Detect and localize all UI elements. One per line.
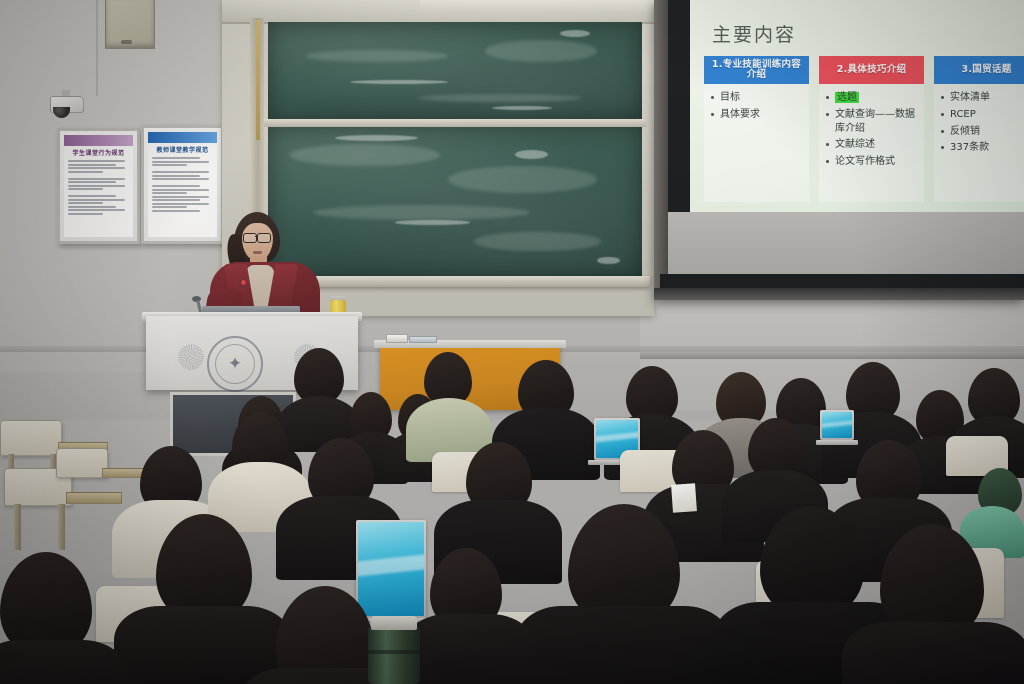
green-thermos: [368, 616, 420, 684]
slide-bullet: RCEP: [941, 108, 1024, 122]
laptop-open[interactable]: [356, 520, 426, 618]
slide-bullet-highlighted: 选题: [826, 91, 920, 105]
notice-title: 学生课堂行为规范: [64, 146, 133, 158]
book-on-cabinet: [409, 336, 437, 343]
screen-valance: [420, 0, 654, 14]
laptop-open[interactable]: [820, 410, 854, 440]
university-seal-icon: ✦: [207, 336, 263, 392]
slide-column-3-body: 实体清单 RCEP 反倾销 337条款: [934, 84, 1024, 202]
lecturer-mouth: [253, 251, 262, 254]
slide-column-1: 1.专业技能训练内容介绍 目标 具体要求: [704, 56, 809, 202]
screen-shadow: [654, 288, 1024, 300]
notice-banner: [64, 135, 133, 146]
wall-trim-rail: [640, 352, 1024, 359]
slide-bullet: 论文写作格式: [826, 155, 920, 169]
wall-seam: [96, 0, 98, 96]
slide-column-2-body: 选题 文献查询——数据库介绍 文献综述 论文写作格式: [819, 84, 924, 202]
glasses-icon: [243, 233, 257, 243]
speaker-box-icon: [105, 0, 155, 49]
blackboard-middle-rail: [264, 119, 646, 127]
slide-column-3-header: 3.国贸话题: [934, 56, 1024, 84]
lapel-pin-icon: [241, 280, 246, 285]
notice-banner: [148, 132, 217, 143]
cctv-camera-icon: [50, 96, 86, 118]
blackboard-upper-panel: [268, 22, 642, 122]
screen-lower-band: [668, 212, 1024, 274]
highlight-mark: 选题: [835, 92, 859, 103]
screen-bottom-edge: [660, 274, 1024, 288]
thermos-body: [368, 626, 420, 684]
slide-bullet: 实体清单: [941, 91, 1024, 105]
notice-board-student-rules: 学生课堂行为规范: [57, 128, 140, 244]
paper-sheet: [671, 483, 697, 513]
podium-emblem-left: [178, 344, 204, 370]
glasses-icon: [257, 233, 271, 243]
camera-lens-icon: [53, 107, 70, 118]
presentation-slide: 主要内容 1.专业技能训练内容介绍 目标 具体要求 2.具体技巧介绍 选题 文献…: [690, 0, 1024, 212]
slide-bullet: 文献综述: [826, 138, 920, 152]
screen-bezel: [654, 0, 668, 300]
slide-bullet: 337条款: [941, 141, 1024, 155]
notice-title: 教师课堂教学规范: [148, 143, 217, 155]
slide-bullet: 反倾销: [941, 125, 1024, 139]
thermos-band: [368, 650, 420, 654]
slide-column-2-header: 2.具体技巧介绍: [819, 56, 924, 84]
slide-bullet: 文献查询——数据库介绍: [826, 108, 920, 136]
slide-column-1-body: 目标 具体要求: [704, 84, 809, 202]
lecture-hall-photo: 学生课堂行为规范 教师课堂教学规范: [0, 0, 1024, 684]
book-on-cabinet: [386, 334, 408, 343]
slide-bullet: 具体要求: [711, 108, 805, 122]
slide-title: 主要内容: [712, 20, 796, 47]
seal-glyph: ✦: [215, 344, 255, 384]
notice-text-block: [64, 158, 133, 237]
slide-column-2: 2.具体技巧介绍 选题 文献查询——数据库介绍 文献综述 论文写作格式: [819, 56, 924, 202]
empty-desk-chair: [56, 448, 142, 510]
blackboard-gold-strip: [256, 20, 260, 140]
slide-column-1-header: 1.专业技能训练内容介绍: [704, 56, 809, 84]
thermos-cap: [371, 616, 417, 630]
slide-columns: 1.专业技能训练内容介绍 目标 具体要求 2.具体技巧介绍 选题 文献查询——数…: [704, 56, 1024, 202]
slide-column-3: 3.国贸话题 实体清单 RCEP 反倾销 337条款: [934, 56, 1024, 202]
slide-bullet: 目标: [711, 91, 805, 105]
glasses-bridge: [255, 236, 258, 237]
